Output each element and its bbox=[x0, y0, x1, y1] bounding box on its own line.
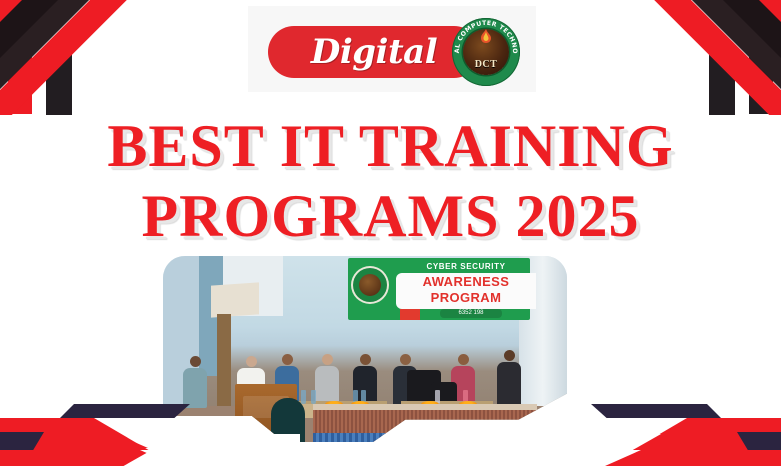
decor-navy-sliver bbox=[591, 404, 721, 418]
brand-logo-card: Digital DIGITAL COMPUTER TECHNOLOGY KOTP… bbox=[248, 6, 536, 92]
flame-icon bbox=[475, 27, 497, 49]
banner-logo-icon bbox=[353, 268, 387, 302]
decor-top-left bbox=[0, 0, 140, 115]
brand-badge-center-text: DCT bbox=[452, 59, 520, 70]
banner-line-1: CYBER SECURITY bbox=[408, 262, 524, 271]
photo-water-bottle bbox=[301, 390, 306, 404]
poster-canvas: Digital DIGITAL COMPUTER TECHNOLOGY KOTP… bbox=[0, 0, 781, 468]
banner-line-3: PROGRAM bbox=[396, 290, 536, 305]
banner-red-tag bbox=[400, 309, 420, 320]
photo-wall-board bbox=[211, 282, 259, 317]
photo-person bbox=[315, 354, 339, 406]
banner-white-panel: AWARENESS PROGRAM bbox=[396, 273, 536, 309]
headline-line-1: BEST IT TRAINING bbox=[0, 119, 781, 174]
decor-navy-sliver bbox=[60, 404, 190, 418]
page-title: BEST IT TRAINING PROGRAMS 2025 bbox=[0, 119, 781, 243]
banner-line-2: AWARENESS bbox=[396, 274, 536, 289]
photo-water-bottle bbox=[311, 390, 316, 404]
headline-line-2: PROGRAMS 2025 bbox=[0, 189, 781, 244]
decor-top-right bbox=[641, 0, 781, 115]
brand-logo-pill: Digital bbox=[268, 26, 480, 78]
brand-wordmark: Digital bbox=[268, 26, 480, 78]
brand-badge-icon: DIGITAL COMPUTER TECHNOLOGY KOTPUTLI DCT bbox=[452, 18, 520, 86]
photo-event-banner: CYBER SECURITY AWARENESS PROGRAM 6352 19… bbox=[348, 258, 530, 320]
banner-phone-number: 6352 198 bbox=[440, 309, 502, 318]
